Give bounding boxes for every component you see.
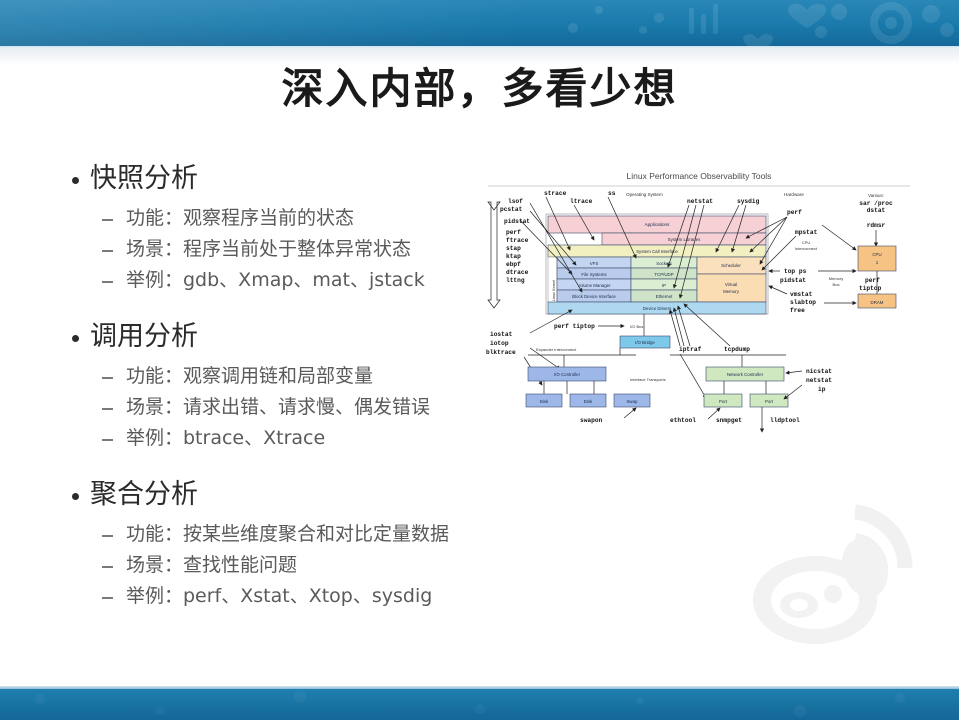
dash-icon: [102, 566, 113, 568]
sub-item: 场景：查找性能问题: [102, 550, 482, 581]
sub-list: 功能：按某些维度聚合和对比定量数据 场景：查找性能问题 举例：perf、Xsta…: [72, 519, 482, 612]
dash-icon: [102, 250, 113, 252]
tool-pidstat: pidstat: [504, 218, 530, 225]
tool-slabtop: slabtop: [790, 299, 816, 306]
box-cpu: [858, 246, 896, 271]
svg-text:Port: Port: [719, 399, 728, 404]
bullet-dot-icon: [72, 335, 79, 342]
tool-ktap: ktap: [506, 253, 521, 260]
sub-item-label: 举例：gdb、Xmap、mat、jstack: [126, 265, 425, 296]
sub-item: 举例：gdb、Xmap、mat、jstack: [102, 265, 482, 296]
tool-perf-top: perf: [787, 209, 802, 216]
sub-item: 举例：perf、Xstat、Xtop、sysdig: [102, 581, 482, 612]
diagram-title: Linux Performance Observability Tools: [627, 171, 772, 181]
sub-item: 功能：观察程序当前的状态: [102, 203, 482, 234]
svg-text:Disk: Disk: [540, 399, 549, 404]
tool-netstat-right: netstat: [806, 377, 832, 384]
dash-icon: [102, 439, 113, 441]
label-linux-kernel: Linux Kernel: [552, 280, 556, 301]
dash-icon: [102, 377, 113, 379]
svg-text:Network Controller: Network Controller: [727, 372, 764, 377]
svg-text:File Systems: File Systems: [581, 272, 607, 277]
tool-dstat: dstat: [867, 207, 886, 214]
svg-text:VFS: VFS: [590, 261, 599, 266]
tool-iostat: iostat: [490, 331, 513, 338]
dash-icon: [102, 535, 113, 537]
svg-text:Block Device Interface: Block Device Interface: [572, 294, 616, 299]
sub-item-label: 场景：查找性能问题: [126, 550, 297, 581]
sub-item: 场景：程序当前处于整体异常状态: [102, 234, 482, 265]
svg-text:Swap: Swap: [627, 399, 639, 404]
svg-text:Port: Port: [765, 399, 774, 404]
label-memory-bus: Memory: [829, 276, 843, 281]
tool-ss: ss: [608, 190, 616, 197]
sub-item-label: 场景：请求出错、请求慢、偶发错误: [126, 392, 430, 423]
bullet-group-1: 快照分析 功能：观察程序当前的状态 场景：程序当前处于整体异常状态 举例：gdb…: [72, 160, 482, 296]
tool-tiptop-mem: tiptop: [859, 285, 882, 292]
svg-text:System Call Interface: System Call Interface: [636, 249, 678, 254]
label-various: Various:: [868, 193, 884, 198]
bullet-item: 聚合分析: [72, 476, 482, 514]
bullet-label: 聚合分析: [90, 476, 198, 514]
tool-iotop: iotop: [490, 340, 509, 347]
tool-free: free: [790, 307, 805, 314]
header-fade: [0, 49, 959, 65]
bullet-list: 快照分析 功能：观察程序当前的状态 场景：程序当前处于整体异常状态 举例：gdb…: [72, 160, 482, 612]
tool-netstat: netstat: [687, 198, 713, 205]
linux-performance-observability-diagram: .bxt{font-family:"Liberation Sans",sans-…: [484, 170, 914, 445]
bullet-group-2: 调用分析 功能：观察调用链和局部变量 场景：请求出错、请求慢、偶发错误 举例：b…: [72, 318, 482, 454]
bullet-label: 快照分析: [90, 160, 198, 198]
svg-text:Disk: Disk: [584, 399, 593, 404]
tool-ftrace: ftrace: [506, 237, 529, 244]
label-io-bus: I/O Bus: [630, 324, 643, 329]
sub-item-label: 功能：按某些维度聚合和对比定量数据: [126, 519, 449, 550]
bullet-group-3: 聚合分析 功能：按某些维度聚合和对比定量数据 场景：查找性能问题 举例：perf…: [72, 476, 482, 612]
sub-item-label: 功能：观察程序当前的状态: [126, 203, 354, 234]
header-gloss: [0, 0, 959, 46]
tool-pcstat: pcstat: [500, 206, 523, 213]
dash-icon: [102, 219, 113, 221]
tool-lsof: lsof: [508, 198, 523, 205]
label-interface-transports: Interface Transports: [630, 377, 666, 382]
tool-ltrace: ltrace: [570, 198, 593, 205]
tool-lttng: lttng: [506, 277, 525, 284]
weibo-watermark-icon: [737, 472, 937, 672]
tool-swapon: swapon: [580, 417, 603, 424]
tool-pidstat-right: pidstat: [780, 277, 806, 284]
tool-mpstat: mpstat: [795, 229, 818, 236]
label-expander-interconnect: Expander Interconnect: [536, 347, 577, 352]
bullet-dot-icon: [72, 493, 79, 500]
tool-strace: strace: [544, 190, 567, 197]
svg-text:Ethernet: Ethernet: [656, 294, 673, 299]
tool-perf-tiptop-bus: perf tiptop: [554, 323, 595, 330]
svg-text:Device Drivers: Device Drivers: [643, 306, 672, 311]
label-cpu-interconnect2: Interconnect: [795, 246, 818, 251]
tool-nicstat: nicstat: [806, 368, 832, 375]
svg-text:CPU: CPU: [872, 252, 881, 257]
sub-item: 功能：观察调用链和局部变量: [102, 361, 482, 392]
svg-text:Virtual: Virtual: [725, 282, 737, 287]
footer-decoration: [0, 689, 959, 720]
tool-perf-left: perf: [506, 229, 521, 236]
sub-list: 功能：观察调用链和局部变量 场景：请求出错、请求慢、偶发错误 举例：btrace…: [72, 361, 482, 454]
bullet-label: 调用分析: [90, 318, 198, 356]
sub-list: 功能：观察程序当前的状态 场景：程序当前处于整体异常状态 举例：gdb、Xmap…: [72, 203, 482, 296]
sub-item-label: 举例：btrace、Xtrace: [126, 423, 325, 454]
svg-text:Volume Manager: Volume Manager: [577, 283, 611, 288]
tool-tcpdump: tcpdump: [724, 346, 750, 353]
tool-sysdig: sysdig: [737, 198, 760, 205]
tool-ebpf: ebpf: [506, 261, 521, 268]
tool-perf-mem: perf: [865, 277, 880, 284]
label-hardware: Hardware: [784, 192, 804, 197]
bullet-dot-icon: [72, 177, 79, 184]
svg-text:Scheduler: Scheduler: [721, 263, 741, 268]
sub-item-label: 功能：观察调用链和局部变量: [126, 361, 373, 392]
tool-ethtool: ethtool: [670, 417, 696, 424]
bullet-item: 快照分析: [72, 160, 482, 198]
label-memory-bus2: Bus: [833, 282, 840, 287]
sub-item: 场景：请求出错、请求慢、偶发错误: [102, 392, 482, 423]
box-virtual-memory: [697, 274, 766, 302]
kernel-span-arrow-icon: [488, 202, 500, 308]
slide: 深入内部，多看少想 快照分析: [0, 0, 959, 720]
svg-text:I/O Bridge: I/O Bridge: [635, 340, 655, 345]
tool-ip: ip: [818, 386, 826, 393]
sub-item: 功能：按某些维度聚合和对比定量数据: [102, 519, 482, 550]
sub-item: 举例：btrace、Xtrace: [102, 423, 482, 454]
dash-icon: [102, 597, 113, 599]
tool-dtrace: dtrace: [506, 269, 529, 276]
svg-text:Applications: Applications: [645, 222, 670, 227]
bullet-item: 调用分析: [72, 318, 482, 356]
tool-iptraf: iptraf: [679, 346, 702, 353]
dash-icon: [102, 281, 113, 283]
svg-text:I/O Controller: I/O Controller: [554, 372, 581, 377]
sub-item-label: 举例：perf、Xstat、Xtop、sysdig: [126, 581, 432, 612]
header-band: [0, 0, 959, 46]
footer-band: [0, 689, 959, 720]
page-title: 深入内部，多看少想: [0, 64, 959, 114]
tool-snmpget: snmpget: [716, 417, 742, 424]
sub-item-label: 场景：程序当前处于整体异常状态: [126, 234, 411, 265]
label-operating-system: Operating System: [626, 192, 663, 197]
tool-top-ps: top ps: [784, 268, 807, 275]
dash-icon: [102, 408, 113, 410]
tool-blktrace: blktrace: [486, 349, 516, 356]
tool-sar-proc: sar /proc: [859, 200, 893, 207]
tool-vmstat: vmstat: [790, 291, 813, 298]
label-cpu-interconnect: CPU: [802, 240, 811, 245]
tool-stap: stap: [506, 245, 521, 252]
svg-text:System Libraries: System Libraries: [668, 237, 702, 242]
svg-text:DRAM: DRAM: [871, 300, 884, 305]
tool-rdmsr: rdmsr: [867, 222, 886, 229]
svg-text:Memory: Memory: [723, 289, 740, 294]
svg-text:IP: IP: [662, 283, 666, 288]
tool-lldptool: lldptool: [770, 417, 800, 424]
svg-text:TCP/UDP: TCP/UDP: [654, 272, 673, 277]
